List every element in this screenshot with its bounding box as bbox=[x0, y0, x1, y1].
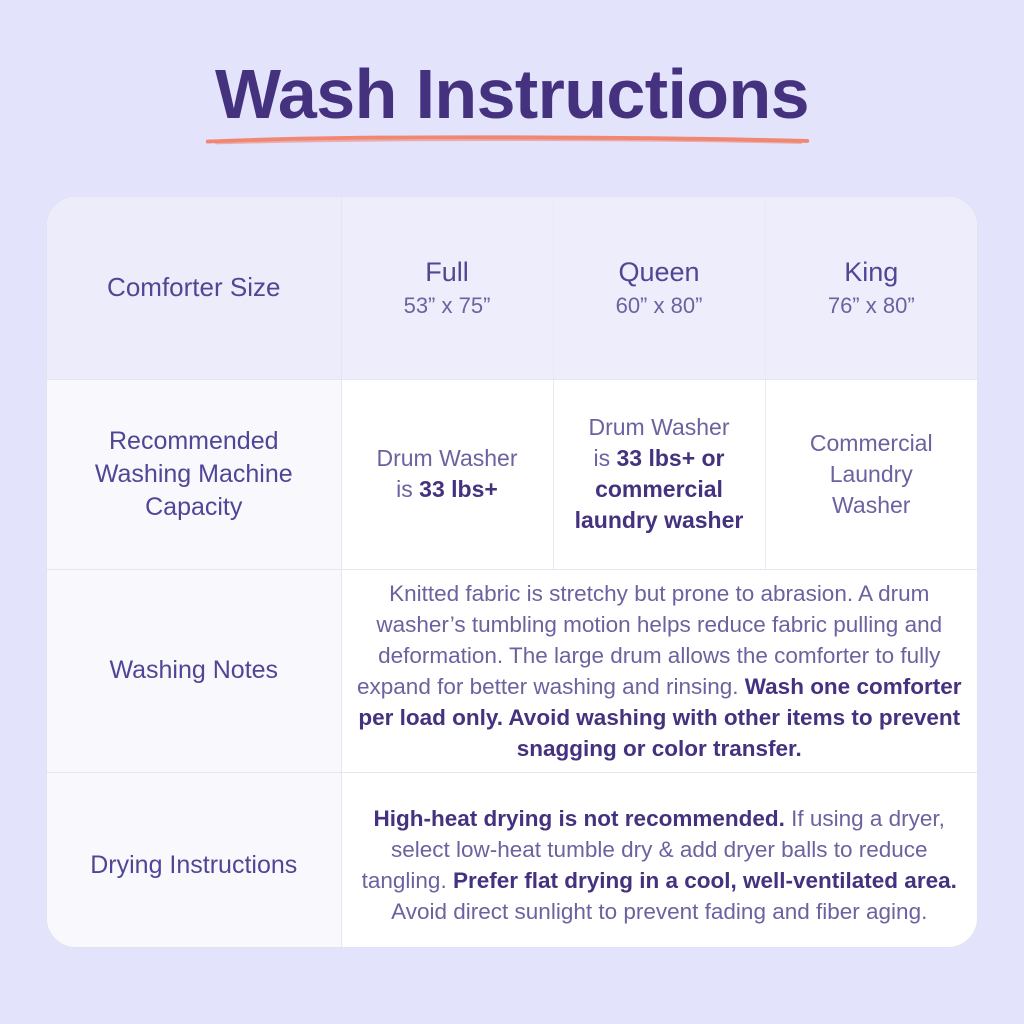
cell-capacity-queen: Drum Washeris 33 lbs+ orcommerciallaundr… bbox=[553, 379, 765, 569]
size-dims-full: 53” x 75” bbox=[356, 291, 539, 321]
table-row-capacity: Recommended Washing Machine Capacity Dru… bbox=[47, 379, 977, 569]
header-cell-comforter-size: Comforter Size bbox=[47, 197, 341, 379]
size-name-king: King bbox=[780, 255, 964, 289]
row-label-capacity: Recommended Washing Machine Capacity bbox=[47, 379, 341, 569]
header-cell-full: Full 53” x 75” bbox=[341, 197, 553, 379]
page-title: Wash Instructions bbox=[215, 52, 809, 136]
cell-drying-instructions: High-heat drying is not recommended. If … bbox=[341, 772, 977, 948]
cell-washing-notes: Knitted fabric is stretchy but prone to … bbox=[341, 569, 977, 772]
header-cell-king: King 76” x 80” bbox=[765, 197, 977, 379]
table-header-row: Comforter Size Full 53” x 75” Queen 60” … bbox=[47, 197, 977, 379]
size-name-full: Full bbox=[356, 255, 539, 289]
title-underline-stroke bbox=[205, 134, 810, 145]
row-label-washing-notes: Washing Notes bbox=[47, 569, 341, 772]
size-dims-queen: 60” x 80” bbox=[568, 291, 751, 321]
page-title-container: Wash Instructions bbox=[0, 52, 1024, 136]
size-dims-king: 76” x 80” bbox=[780, 291, 964, 321]
row-label-drying-instructions: Drying Instructions bbox=[47, 772, 341, 948]
wash-instructions-table: Comforter Size Full 53” x 75” Queen 60” … bbox=[47, 197, 977, 948]
header-cell-queen: Queen 60” x 80” bbox=[553, 197, 765, 379]
page-title-text: Wash Instructions bbox=[215, 55, 809, 133]
table-row-washing-notes: Washing Notes Knitted fabric is stretchy… bbox=[47, 569, 977, 772]
cell-capacity-full: Drum Washeris 33 lbs+ bbox=[341, 379, 553, 569]
wash-instructions-table-card: Comforter Size Full 53” x 75” Queen 60” … bbox=[46, 196, 978, 948]
size-name-queen: Queen bbox=[568, 255, 751, 289]
table-row-drying-instructions: Drying Instructions High-heat drying is … bbox=[47, 772, 977, 948]
cell-capacity-king: CommercialLaundryWasher bbox=[765, 379, 977, 569]
infographic-page: Wash Instructions Comforter Size Full 5 bbox=[0, 0, 1024, 1024]
